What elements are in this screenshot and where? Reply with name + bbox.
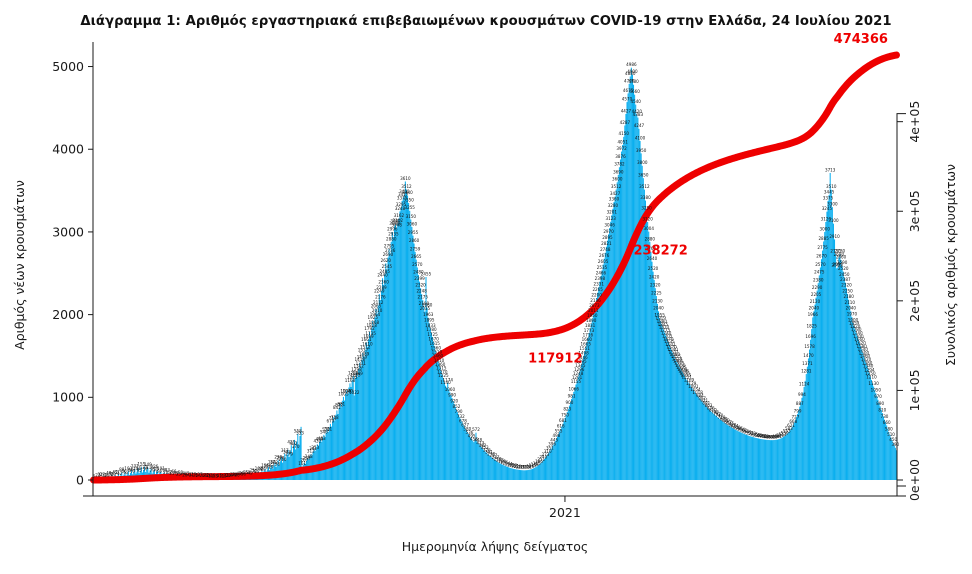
bar [618,175,619,480]
bar [536,466,537,480]
bar [541,463,542,480]
bar [524,470,525,480]
bar-value-label: 668 [789,419,797,424]
bar [776,440,777,480]
bar [534,468,535,480]
bar [322,438,323,480]
bar-value-label: 3280 [608,203,619,208]
bar [351,387,352,480]
bar [744,434,745,480]
bar [789,430,790,480]
y-tick-label: 0 [76,472,84,487]
bar [537,466,538,480]
bar [766,440,767,480]
bar [855,330,856,481]
bar [595,303,596,480]
bar [371,329,372,480]
bar-value-label: 4150 [619,131,630,136]
bar-value-label: 2040 [653,306,664,311]
bar [512,469,513,480]
bar-value-label: 2545 [382,264,393,269]
bar [679,366,680,480]
bar-value-label: 3162 [394,213,405,218]
bar-value-label: 390 [891,442,899,447]
bar-value-label: 727 [791,414,799,419]
bar [502,464,503,480]
bar-value-label: 2200 [591,292,602,297]
bar [662,327,663,480]
bar [354,395,355,480]
bar [599,282,600,480]
bar-value-label: 1371 [356,361,367,366]
bar [645,201,646,481]
bar [403,197,404,480]
bar-value-label: 2290 [812,285,823,290]
bar-value-label: 3713 [825,167,836,172]
bar-value-label: 555 [555,429,563,434]
bar [562,424,563,480]
bar [678,364,679,480]
bar-value-label: 990 [448,393,456,398]
bar [567,412,568,480]
bar [808,358,809,480]
bar-value-label: 158 [272,461,280,466]
bar [718,418,719,480]
bar-value-label: 2331 [594,282,605,287]
bar [629,84,630,480]
bar [893,443,894,480]
bar-value-label: 3255 [404,205,415,210]
bar [450,395,451,480]
bar-value-label: 4986 [626,62,637,67]
bar [494,460,495,480]
bar [542,461,543,480]
bar [545,457,546,480]
bar [616,190,617,480]
bar [732,428,733,480]
bar-value-label: 2250 [842,288,853,293]
bar [365,350,366,480]
bar [469,436,470,480]
bar [408,203,409,480]
bar [368,340,369,480]
bar [694,391,695,480]
bar-value-label: 2387 [840,277,851,282]
bar [799,407,800,480]
cumulative-annotation: 117912 [528,351,582,366]
bar-value-label: 1249 [352,371,363,376]
bar [559,432,560,480]
bar-value-label: 1022 [349,390,360,395]
bar [661,325,662,480]
bar [456,410,457,480]
bar-value-label: 750 [561,412,569,417]
bar-value-label: 463 [318,436,326,441]
bar [738,432,739,480]
bar [378,305,379,480]
bar [404,195,405,480]
bar-value-label: 1963 [423,312,434,317]
bar [874,390,875,480]
bar [684,376,685,480]
bar [728,425,729,480]
bar-value-label: 3512 [639,184,650,189]
bar [457,412,458,480]
bar-value-label: 3201 [607,210,618,215]
bar [492,458,493,480]
bar [686,380,687,480]
bar [374,318,375,480]
bar-value-label: 2011 [588,308,599,313]
bar [858,339,859,480]
bar [572,395,573,480]
bar [392,232,393,480]
bar [736,430,737,480]
bar [757,438,758,480]
bar [569,406,570,480]
bar-value-label: 3060 [407,221,418,226]
bar [509,468,510,480]
bar [706,406,707,480]
bar [560,429,561,480]
bar [626,102,627,480]
bar [872,383,873,480]
bar-value-label: 2970 [603,229,614,234]
bar [825,222,826,480]
bar [318,446,319,480]
bar [486,453,487,480]
bar [420,288,421,480]
bar-value-label: 2225 [651,290,662,295]
bar [332,421,333,480]
bar [348,388,349,480]
bar-value-label: 1578 [804,344,815,349]
bar [323,435,324,480]
bar-value-label: 2136 [590,298,601,303]
bar-value-label: 2360 [378,279,389,284]
bar [380,300,381,480]
y-tick-label: 2000 [52,307,84,322]
y-tick-label: 5000 [52,59,84,74]
bar-value-label: 2455 [421,271,432,276]
bar [464,426,465,480]
y2-axis-title: Συνολικός αριθμός κρουσμάτων [943,164,958,366]
bar [615,197,616,480]
bar-value-label: 2175 [418,295,429,300]
bar [875,393,876,480]
bar [555,441,556,480]
bar-value-label: 810 [878,407,886,412]
bar [860,346,861,480]
bar [676,362,677,480]
bar [538,465,539,480]
bar [726,425,727,480]
bar [730,427,731,480]
bar [754,437,755,480]
bar [669,345,670,480]
bar [699,399,700,480]
bar [592,319,593,480]
bar-value-label: 2736 [385,248,396,253]
bar-value-label: 1868 [369,320,380,325]
bar [770,440,771,480]
bar [775,440,776,480]
bar-value-label: 3300 [827,202,838,207]
bar [856,333,857,480]
bar [441,371,442,480]
bar [558,434,559,480]
bar [561,426,562,480]
bar-value-label: 2860 [409,238,420,243]
bar [424,312,425,480]
bar-value-label: 1831 [585,323,596,328]
x-axis-title: Ημερομηνία λήψης δείγματος [402,539,589,554]
bar [797,414,798,480]
bar [516,469,517,480]
bar-value-label: 2180 [843,294,854,299]
bar-value-label: 2759 [410,246,421,251]
bar-value-label: 2821 [601,241,612,246]
bar-value-label: 4540 [630,99,641,104]
bar [550,449,551,480]
bar-value-label: 1773 [584,328,595,333]
bar [517,470,518,480]
bar [491,457,492,480]
bar-value-label: 3512 [401,184,412,189]
bar-value-label: 1610 [362,341,373,346]
bar-value-label: 279 [285,451,293,456]
bar [563,421,564,480]
bar-value-label: 3375 [823,195,834,200]
bar [695,393,696,480]
bar [364,357,365,480]
bar [745,434,746,480]
bar-value-label: 2605 [598,259,609,264]
bar-value-label: 616 [557,423,565,428]
bar [320,440,321,480]
bar [784,436,785,480]
bar-value-label: 2420 [649,274,660,279]
bar [642,166,643,480]
bar [528,470,529,480]
bar [774,440,775,480]
bar [748,436,749,480]
bar [786,434,787,480]
bar [624,126,625,481]
bar [444,382,445,480]
bar [458,415,459,480]
y2-tick-label: 1e+05 [907,369,922,411]
bar [399,211,400,480]
bar-value-label: 1660 [582,337,593,342]
bar [705,405,706,480]
bar-value-label: 2080 [422,302,433,307]
bar [613,202,614,480]
bar [503,465,504,480]
bar [468,434,469,480]
bar [485,452,486,480]
bar-value-label: 2880 [645,236,656,241]
bar [731,427,732,480]
bar [571,399,572,480]
bar [620,159,621,480]
bar [480,446,481,480]
bar [470,437,471,480]
bar [866,363,867,480]
bar [659,318,660,480]
bar [340,404,341,480]
bar [721,421,722,480]
bar [361,360,362,480]
bar [483,450,484,480]
bar-value-label: 823 [563,406,571,411]
bar [711,412,712,480]
bar [507,467,508,480]
bar [496,461,497,480]
bar [852,323,853,480]
bar [623,137,624,480]
y2-tick-label: 4e+05 [907,101,922,143]
bar-value-label: 2466 [596,270,607,275]
bar [387,258,388,480]
bar [691,387,692,480]
bar [453,401,454,480]
bar [788,432,789,480]
bar [331,427,332,480]
bar [367,347,368,480]
bar-series-group [93,68,897,480]
bar [398,219,399,480]
bar [289,457,290,480]
bar [553,445,554,480]
bar-value-label: 2775 [817,245,828,250]
bar [873,387,874,480]
bar [729,426,730,480]
bar [574,388,575,480]
bar-value-label: 1050 [871,388,882,393]
bar [343,397,344,480]
bar-value-label: 3690 [613,169,624,174]
bar-value-label: 3350 [403,197,414,202]
bar [753,437,754,480]
bar [565,418,566,480]
bar [344,401,345,480]
bar-value-label: 3445 [824,190,835,195]
bar-value-label: 2265 [592,287,603,292]
bar [707,407,708,480]
bar [611,215,612,480]
bar-value-label: 1281 [801,368,812,373]
bar [782,438,783,480]
bar [498,463,499,480]
bar-value-label: 3972 [616,146,627,151]
bar [608,234,609,480]
bar-value-label: 572 [472,427,480,432]
bar [710,411,711,480]
bar-value-label: 2399 [414,276,425,281]
bar [621,152,622,480]
bar [521,470,522,480]
bar [455,407,456,480]
bar-value-label: 2320 [841,283,852,288]
bar [402,201,403,480]
bar [454,404,455,480]
bar-value-label: 3100 [828,218,839,223]
bar [791,429,792,480]
bar [590,329,591,480]
bar [578,377,579,480]
bar-value-label: 660 [883,420,891,425]
bar [779,439,780,480]
bar-value-label: 3245 [822,206,833,211]
bar [330,424,331,480]
bar [460,419,461,480]
bar-value-label: 445 [550,438,558,443]
bar [835,254,836,480]
bar [394,226,395,480]
bar [673,355,674,480]
bar [554,443,555,480]
bar [700,400,701,480]
bar [597,293,598,480]
bar [334,421,335,480]
bar [879,403,880,480]
bar-value-label: 1470 [803,353,814,358]
bar [644,190,645,480]
bar [466,430,467,480]
bar [358,369,359,480]
bar [580,369,581,480]
bar [549,451,550,480]
bar-value-label: 981 [568,393,576,398]
bar-value-label: 3123 [605,216,616,221]
bar-value-label: 900 [566,400,574,405]
bar-value-label: 4287 [620,120,631,125]
bar [712,413,713,480]
bar [482,448,483,480]
bar-value-label: 3427 [610,191,621,196]
bar [716,416,717,480]
bar [717,417,718,480]
bar [670,348,671,480]
bar-value-label: 2570 [815,262,826,267]
bar [393,237,394,480]
bar [349,383,350,480]
bar [894,445,895,480]
bar [735,430,736,480]
bar [871,380,872,480]
bar-value-label: 3004 [644,226,655,231]
bar [725,424,726,480]
bar [761,439,762,480]
bar [573,392,574,480]
bar [857,336,858,480]
bar [667,339,668,480]
bar [531,469,532,480]
bar [568,409,569,480]
bar [292,453,293,480]
bar [693,390,694,480]
bar [535,467,536,480]
bar [319,442,320,480]
bar-value-label: 210 [279,457,287,462]
bar [381,291,382,480]
bar [497,462,498,480]
bar-value-label: 1735 [365,331,376,336]
bar [742,433,743,480]
bar-value-label: 1696 [805,334,816,339]
bar [692,388,693,480]
